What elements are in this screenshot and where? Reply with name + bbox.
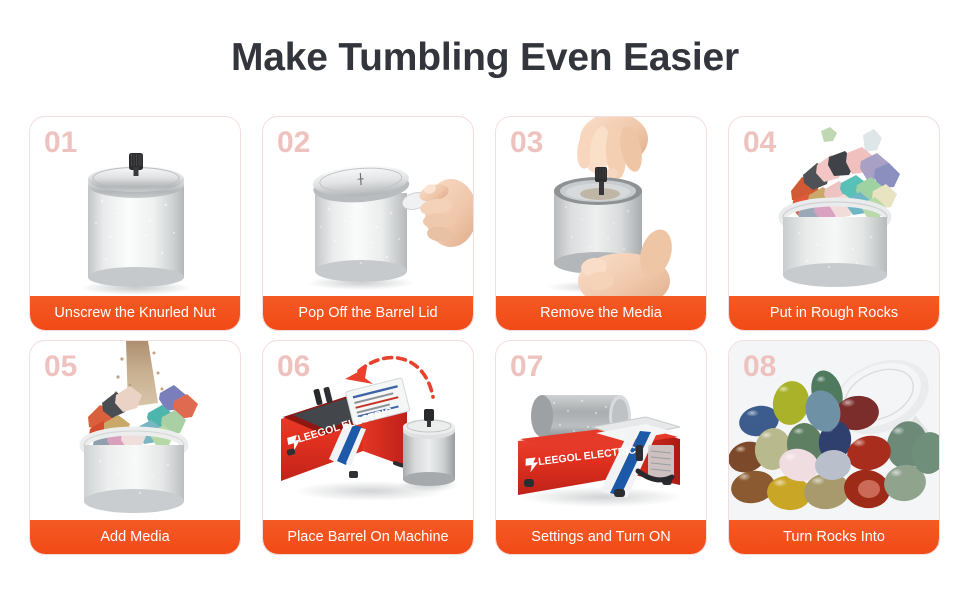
step-number: 07 xyxy=(510,350,543,384)
steps-grid: 01 xyxy=(29,116,941,555)
step-caption: Add Media xyxy=(30,520,240,554)
step-card-03[interactable]: 03 xyxy=(495,116,707,331)
step-card-05[interactable]: 05 xyxy=(29,340,241,555)
step-card-08[interactable]: 08 xyxy=(728,340,940,555)
page-title: Make Tumbling Even Easier xyxy=(0,36,970,80)
step-card-04[interactable]: 04 xyxy=(728,116,940,331)
step-card-06[interactable]: 06 xyxy=(262,340,474,555)
step-caption: Put in Rough Rocks xyxy=(729,296,939,330)
infographic-page: Make Tumbling Even Easier 01 xyxy=(0,0,970,600)
step-caption: Unscrew the Knurled Nut xyxy=(30,296,240,330)
step-caption: Pop Off the Barrel Lid xyxy=(263,296,473,330)
step-card-01[interactable]: 01 xyxy=(29,116,241,331)
step-card-02[interactable]: 02 xyxy=(262,116,474,331)
step-number: 01 xyxy=(44,126,77,160)
step-number: 05 xyxy=(44,350,77,384)
step-number: 02 xyxy=(277,126,310,160)
step-number: 04 xyxy=(743,126,776,160)
step-number: 03 xyxy=(510,126,543,160)
step-card-07[interactable]: 07 xyxy=(495,340,707,555)
step-number: 08 xyxy=(743,350,776,384)
step-number: 06 xyxy=(277,350,310,384)
step-caption: Turn Rocks Into xyxy=(729,520,939,554)
step-caption: Remove the Media xyxy=(496,296,706,330)
step-caption: Settings and Turn ON xyxy=(496,520,706,554)
step-caption: Place Barrel On Machine xyxy=(263,520,473,554)
